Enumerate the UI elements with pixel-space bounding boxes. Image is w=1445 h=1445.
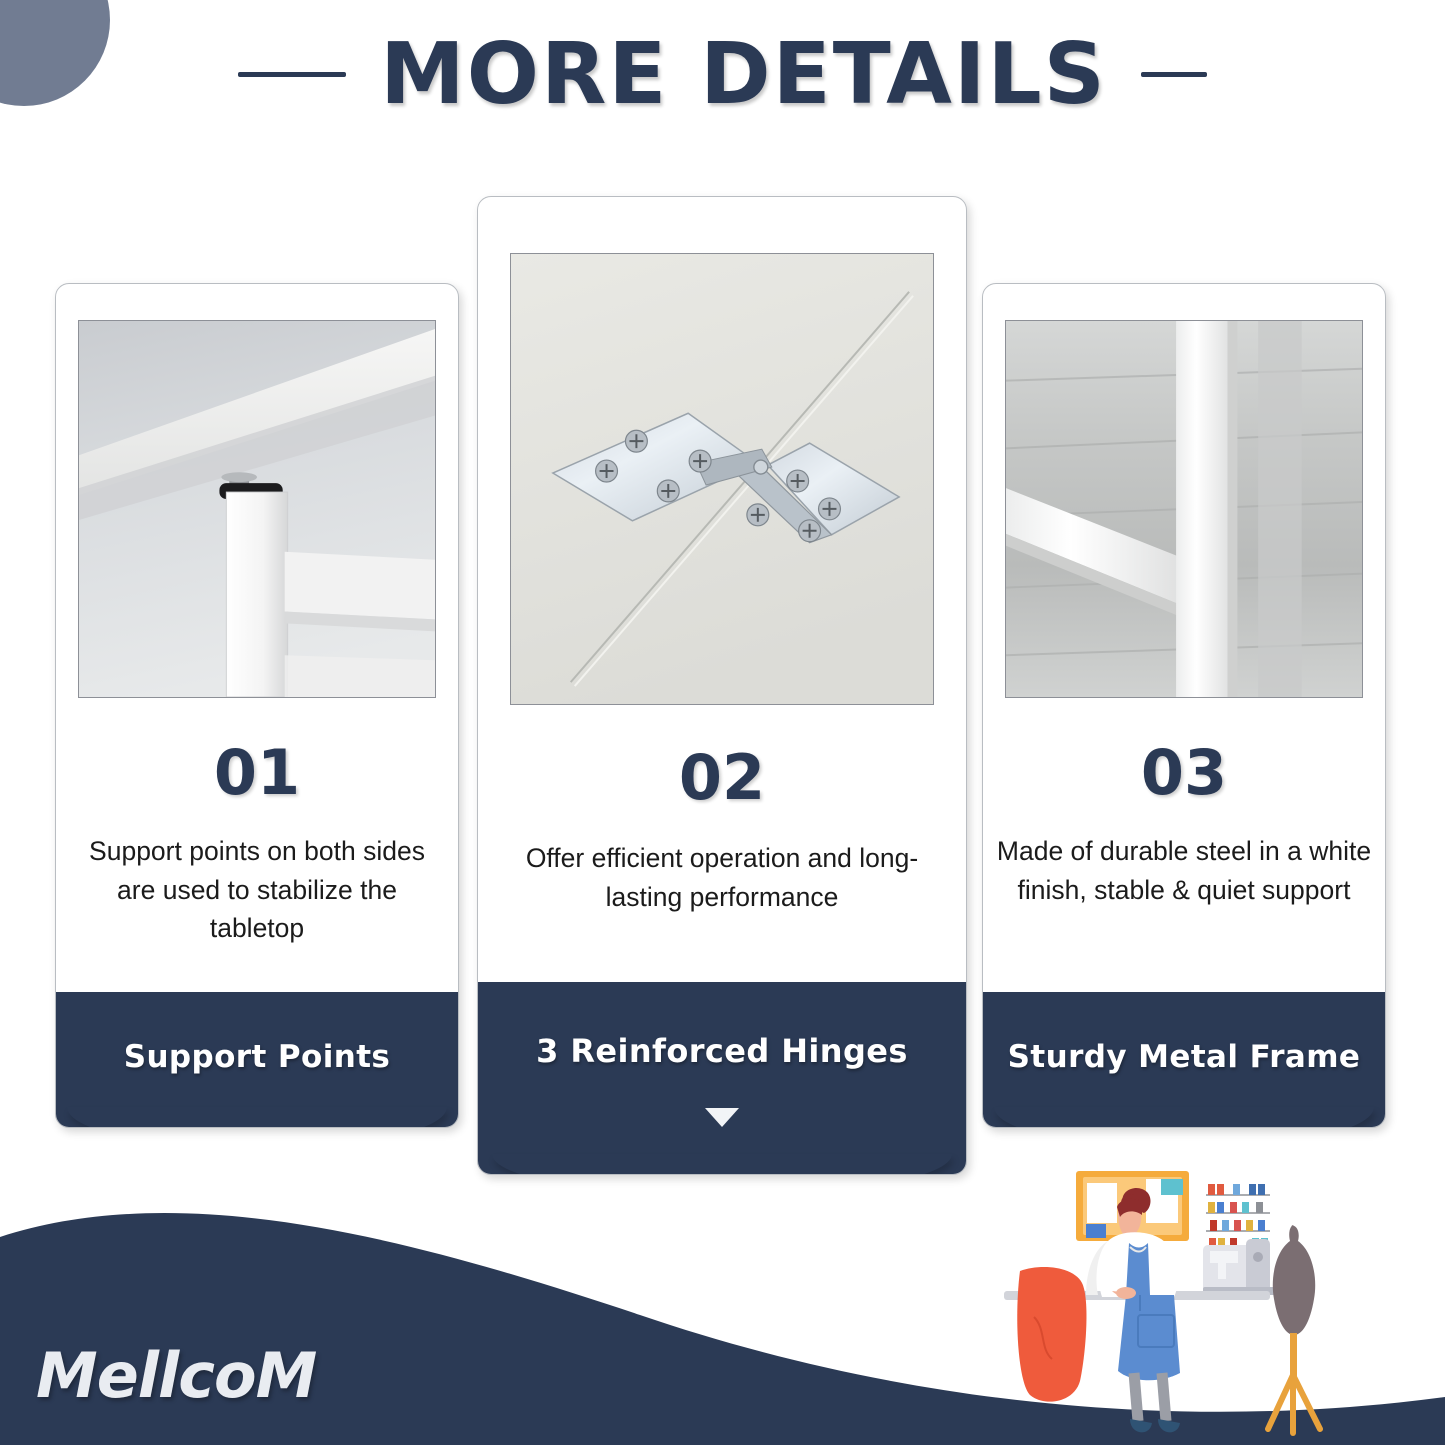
page-title: MORE DETAILS	[380, 32, 1107, 117]
feature-photo-metal-frame	[1005, 320, 1363, 698]
title-rule-right-icon	[1141, 72, 1207, 77]
feature-number-2: 02	[478, 747, 966, 809]
feature-number-3: 03	[983, 742, 1385, 804]
feature-banner-1: Support Points	[55, 992, 459, 1128]
title-rule-left-icon	[238, 72, 346, 77]
page-header: MORE DETAILS	[0, 32, 1445, 117]
feature-card-3[interactable]: 03 Made of durable steel in a white fini…	[982, 283, 1386, 1128]
sewing-workshop-illustration	[990, 1167, 1445, 1445]
feature-photo-reinforced-hinges	[510, 253, 934, 705]
product-detail-page: MORE DETAILS	[0, 0, 1445, 1445]
banner-curve-shape-3	[994, 1107, 1374, 1128]
feature-description-1: Support points on both sides are used to…	[56, 832, 458, 948]
feature-description-2: Offer efficient operation and long-lasti…	[478, 839, 966, 916]
feature-card-2[interactable]: 02 Offer efficient operation and long-la…	[477, 196, 967, 1175]
feature-number-1: 01	[56, 742, 458, 804]
feature-banner-label-3: Sturdy Metal Frame	[982, 992, 1386, 1075]
feature-photo-support-points	[78, 320, 436, 698]
banner-curve-shape-1	[67, 1107, 447, 1128]
feature-banner-label-1: Support Points	[55, 992, 459, 1075]
chevron-down-icon[interactable]	[705, 1108, 739, 1127]
banner-curve-shape-2	[492, 1154, 953, 1175]
feature-banner-label-2: 3 Reinforced Hinges	[477, 982, 967, 1070]
feature-card-1[interactable]: 01 Support points on both sides are used…	[55, 283, 459, 1128]
feature-banner-3: Sturdy Metal Frame	[982, 992, 1386, 1128]
brand-logo: MellcoM	[36, 1345, 316, 1407]
feature-description-3: Made of durable steel in a white finish,…	[983, 832, 1385, 909]
feature-banner-2: 3 Reinforced Hinges	[477, 982, 967, 1175]
